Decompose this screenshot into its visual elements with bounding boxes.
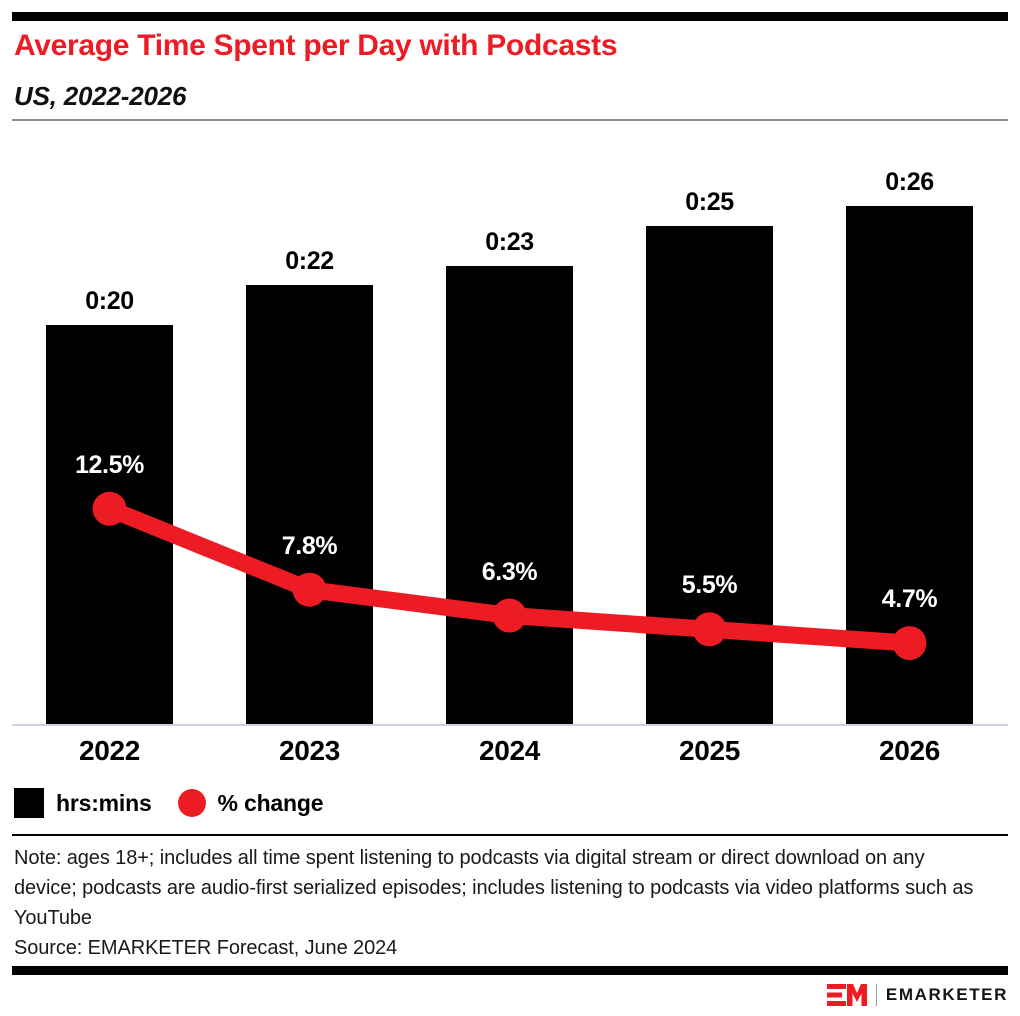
brand-wordmark: EMARKETER <box>886 985 1008 1005</box>
footnote-top-rule <box>12 834 1008 836</box>
chart-source: Source: EMARKETER Forecast, June 2024 <box>14 933 974 963</box>
plot-area: 0:200:220:230:250:26 12.5%7.8%6.3%5.5%4.… <box>0 130 1020 730</box>
percent-change-label: 4.7% <box>810 585 1010 614</box>
chart-card: Average Time Spent per Day with Podcasts… <box>0 0 1020 1016</box>
x-tick-2026: 2026 <box>816 735 1003 767</box>
line-marker-2024 <box>493 599 527 633</box>
header-bottom-rule <box>12 119 1008 121</box>
percent-change-label: 12.5% <box>10 451 210 480</box>
line-marker-2022 <box>93 492 127 526</box>
footer-bottom-rule <box>12 966 1008 975</box>
chart-note: Note: ages 18+; includes all time spent … <box>14 843 974 933</box>
em-monogram-icon <box>827 983 867 1007</box>
legend-label: hrs:mins <box>56 790 152 817</box>
percent-change-label: 5.5% <box>610 571 810 600</box>
line-marker-2023 <box>293 573 327 607</box>
chart-subtitle: US, 2022-2026 <box>14 80 974 112</box>
x-tick-2023: 2023 <box>216 735 403 767</box>
legend-label: % change <box>218 790 324 817</box>
line-marker-2025 <box>693 612 727 646</box>
line-marker-2026 <box>893 626 927 660</box>
circle-swatch-icon <box>178 789 206 817</box>
legend-item-hrs-mins[interactable]: hrs:mins <box>14 788 152 818</box>
x-tick-2024: 2024 <box>416 735 603 767</box>
percent-change-label: 7.8% <box>210 532 410 561</box>
brand-divider <box>876 984 877 1006</box>
legend-item-pct-change[interactable]: % change <box>178 789 324 817</box>
page-title: Average Time Spent per Day with Podcasts <box>14 28 974 64</box>
square-swatch-icon <box>14 788 44 818</box>
x-tick-2025: 2025 <box>616 735 803 767</box>
brand-lockup: EMARKETER <box>827 982 1008 1008</box>
x-tick-2022: 2022 <box>16 735 203 767</box>
chart-legend: hrs:mins% change <box>14 786 323 820</box>
percent-change-label: 6.3% <box>410 558 610 587</box>
percent-change-line-series <box>0 130 1020 730</box>
header-top-rule <box>12 12 1008 21</box>
